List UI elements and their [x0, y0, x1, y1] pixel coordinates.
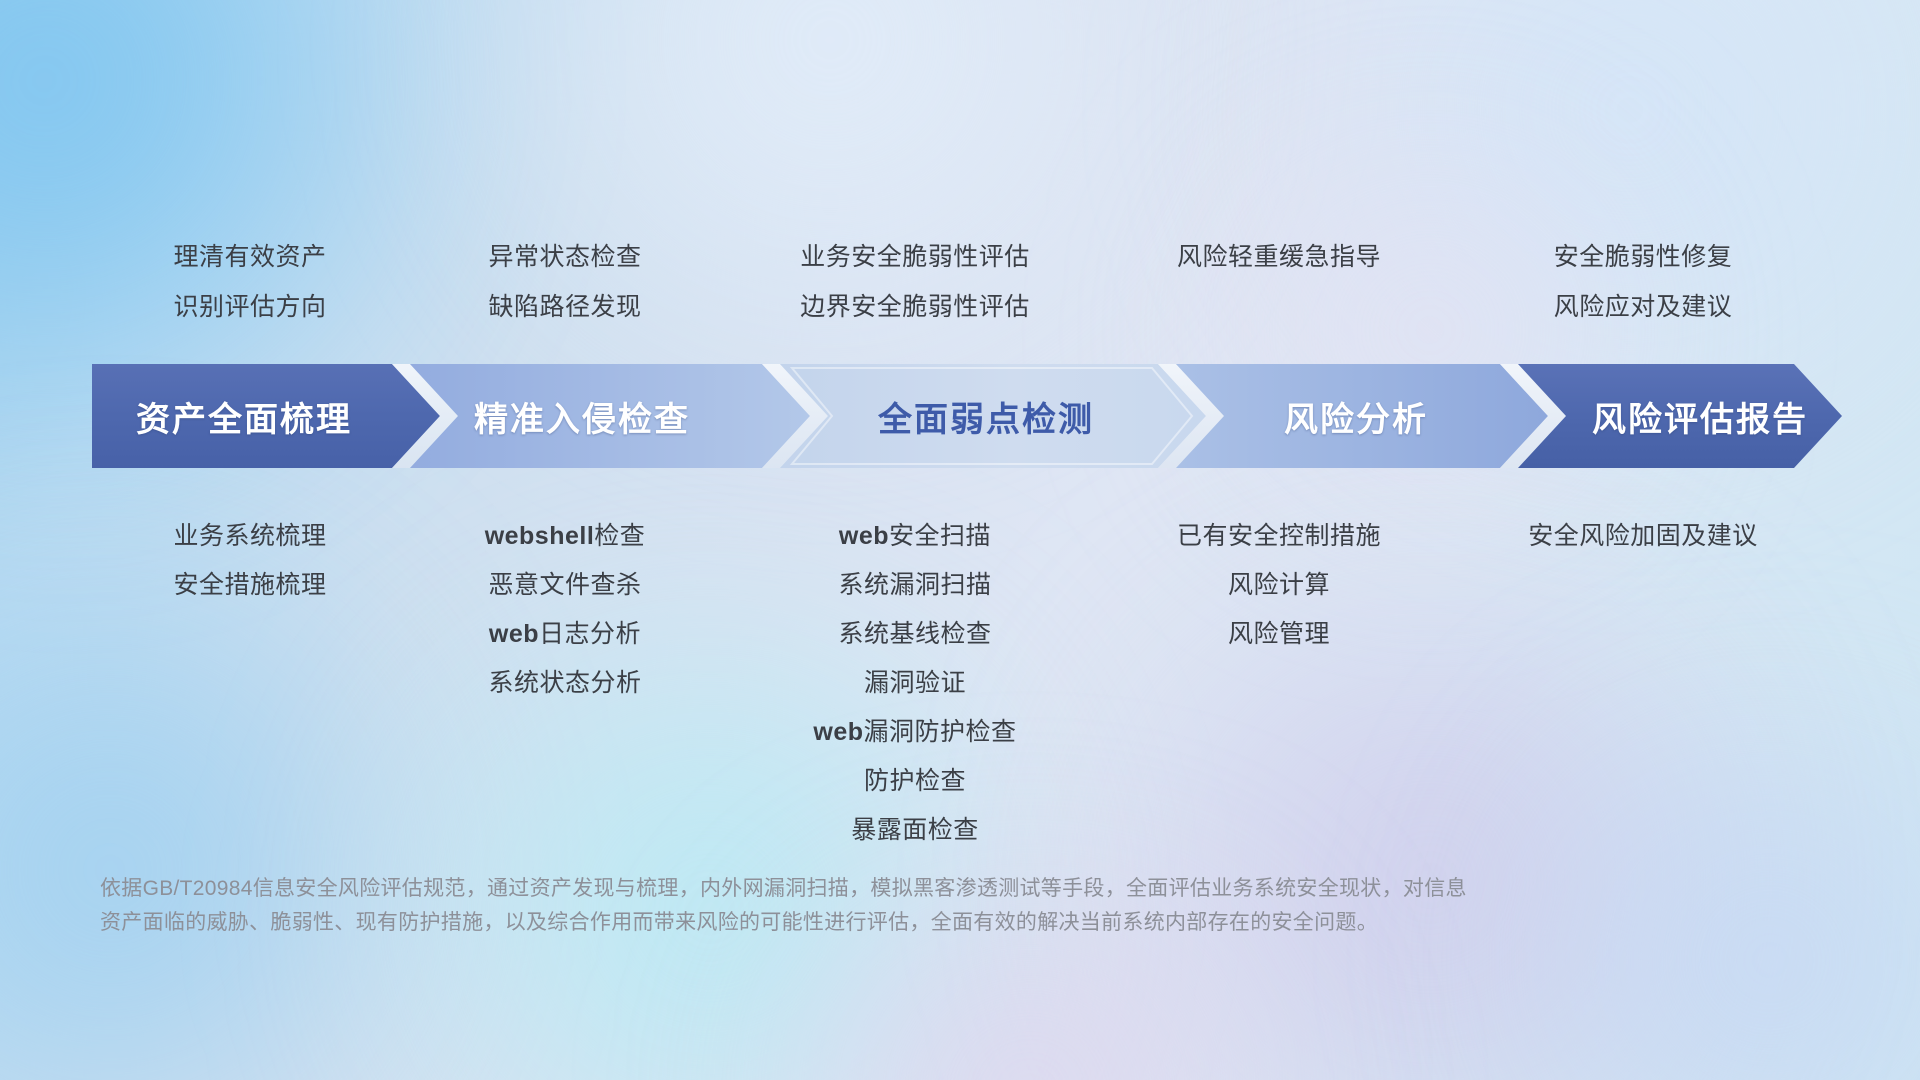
- output-text: 恶意文件查杀: [400, 561, 730, 610]
- output-text: 风险计算: [1100, 561, 1458, 610]
- output-cjk: 安全扫描: [889, 522, 991, 550]
- output-text: web日志分析: [400, 610, 730, 659]
- stage-outputs-4: 已有安全控制措施 风险计算 风险管理: [1100, 512, 1458, 855]
- output-text: 系统漏洞扫描: [730, 561, 1100, 610]
- stage-outputs-row: 业务系统梳理 安全措施梳理 webshell检查 恶意文件查杀 web日志分析 …: [100, 512, 1828, 855]
- arrow-label-stage-2[interactable]: 精准入侵检查: [474, 364, 690, 468]
- infographic-canvas: 理清有效资产 识别评估方向 异常状态检查 缺陷路径发现 业务安全脆弱性评估 边界…: [0, 0, 1920, 1080]
- stage-outputs-3: web安全扫描 系统漏洞扫描 系统基线检查 漏洞验证 web漏洞防护检查 防护检…: [730, 512, 1100, 855]
- input-text: 业务安全脆弱性评估: [730, 232, 1100, 282]
- output-cjk: 检查: [594, 522, 645, 550]
- stage-inputs-5: 安全脆弱性修复 风险应对及建议: [1458, 232, 1828, 332]
- process-arrow-band: 资产全面梳理 精准入侵检查 全面弱点检测 风险分析 风险评估报告: [92, 364, 1842, 468]
- input-text: 风险轻重缓急指导: [1100, 232, 1458, 282]
- stage-inputs-3: 业务安全脆弱性评估 边界安全脆弱性评估: [730, 232, 1100, 332]
- input-text: 缺陷路径发现: [400, 282, 730, 332]
- arrow-label-stage-5[interactable]: 风险评估报告: [1592, 364, 1808, 468]
- input-text: 理清有效资产: [100, 232, 400, 282]
- output-text: 风险管理: [1100, 610, 1458, 659]
- stage-outputs-5: 安全风险加固及建议: [1458, 512, 1828, 855]
- output-text: 业务系统梳理: [100, 512, 400, 561]
- input-text: 风险应对及建议: [1458, 282, 1828, 332]
- output-text: web安全扫描: [730, 512, 1100, 561]
- output-text: 防护检查: [730, 757, 1100, 806]
- output-text: 暴露面检查: [730, 806, 1100, 855]
- output-latin: web: [839, 522, 889, 550]
- output-text: 漏洞验证: [730, 659, 1100, 708]
- arrow-label-stage-1[interactable]: 资产全面梳理: [136, 364, 352, 468]
- stage-inputs-4: 风险轻重缓急指导: [1100, 232, 1458, 332]
- output-text: webshell检查: [400, 512, 730, 561]
- stage-outputs-2: webshell检查 恶意文件查杀 web日志分析 系统状态分析: [400, 512, 730, 855]
- stage-inputs-2: 异常状态检查 缺陷路径发现: [400, 232, 730, 332]
- output-cjk: 日志分析: [539, 620, 641, 648]
- arrow-label-stage-3[interactable]: 全面弱点检测: [878, 364, 1094, 468]
- stage-inputs-row: 理清有效资产 识别评估方向 异常状态检查 缺陷路径发现 业务安全脆弱性评估 边界…: [100, 232, 1828, 332]
- output-text: 系统基线检查: [730, 610, 1100, 659]
- stage-inputs-1: 理清有效资产 识别评估方向: [100, 232, 400, 332]
- output-text: web漏洞防护检查: [730, 708, 1100, 757]
- input-text: 安全脆弱性修复: [1458, 232, 1828, 282]
- stage-outputs-1: 业务系统梳理 安全措施梳理: [100, 512, 400, 855]
- footer-description: 依据GB/T20984信息安全风险评估规范，通过资产发现与梳理，内外网漏洞扫描，…: [100, 872, 1660, 940]
- output-text: 系统状态分析: [400, 659, 730, 708]
- output-text: 已有安全控制措施: [1100, 512, 1458, 561]
- footer-line-2: 资产面临的威胁、脆弱性、现有防护措施，以及综合作用而带来风险的可能性进行评估，全…: [100, 906, 1660, 940]
- footer-line-1: 依据GB/T20984信息安全风险评估规范，通过资产发现与梳理，内外网漏洞扫描，…: [100, 872, 1660, 906]
- output-latin: web: [489, 620, 539, 648]
- output-text: 安全措施梳理: [100, 561, 400, 610]
- arrow-label-stage-4[interactable]: 风险分析: [1284, 364, 1428, 468]
- output-cjk: 漏洞防护检查: [864, 718, 1017, 746]
- input-text: 边界安全脆弱性评估: [730, 282, 1100, 332]
- output-latin: webshell: [485, 522, 595, 550]
- input-text: 异常状态检查: [400, 232, 730, 282]
- output-latin: web: [813, 718, 863, 746]
- input-text: 识别评估方向: [100, 282, 400, 332]
- output-text: 安全风险加固及建议: [1458, 512, 1828, 561]
